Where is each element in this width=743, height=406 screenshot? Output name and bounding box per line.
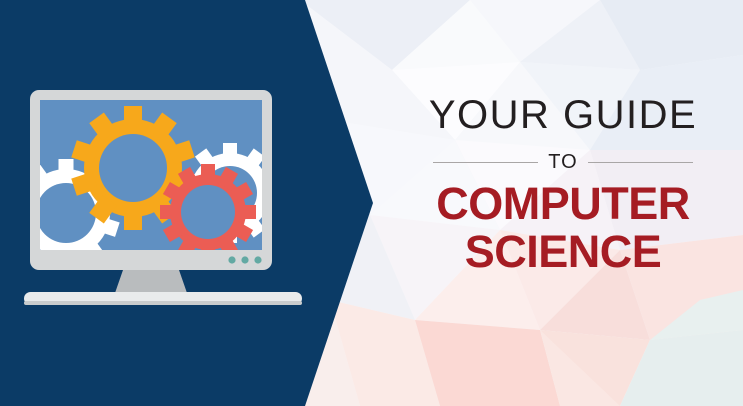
connector-word: TO: [548, 152, 577, 172]
headline-line-computer: COMPUTER: [398, 181, 728, 227]
monitor-stand: [115, 270, 187, 293]
monitor-indicator-dots: [228, 256, 261, 263]
to-divider-row: TO: [398, 152, 728, 172]
headline-line-primary: YOUR GUIDE: [398, 95, 728, 135]
divider-rule-right: [588, 162, 693, 163]
indicator-dot: [228, 256, 235, 263]
indicator-dot: [254, 256, 261, 263]
monitor-base-shadow: [24, 301, 302, 305]
indicator-dot: [241, 256, 248, 263]
monitor-illustration: [18, 88, 308, 313]
headline-line-science: SCIENCE: [398, 229, 728, 275]
divider-rule-left: [433, 162, 538, 163]
headline-block: YOUR GUIDE TO COMPUTER SCIENCE: [398, 95, 728, 275]
computer-science-banner: YOUR GUIDE TO COMPUTER SCIENCE: [0, 0, 743, 406]
